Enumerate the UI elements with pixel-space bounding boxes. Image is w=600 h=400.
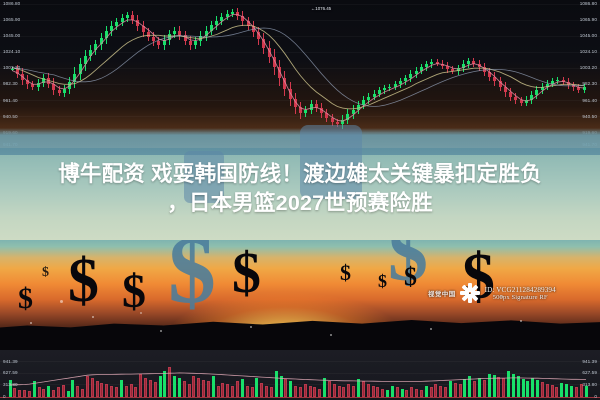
candle-body — [68, 82, 71, 89]
candle-body — [63, 89, 66, 93]
candle-body — [535, 90, 538, 95]
candlestick — [189, 36, 192, 49]
candlestick — [100, 33, 103, 49]
candlestick — [152, 32, 155, 45]
candlestick — [373, 90, 376, 100]
candlestick — [446, 62, 449, 72]
ma-line-ma20 — [12, 25, 584, 109]
candlestick — [514, 93, 517, 105]
candlestick — [567, 78, 570, 88]
candle-body — [168, 34, 171, 39]
candle-body — [283, 78, 286, 89]
candle-body — [236, 12, 239, 16]
light-speck — [430, 328, 432, 330]
candlestick — [257, 27, 260, 45]
candle-body — [541, 87, 544, 91]
candlestick — [79, 58, 82, 80]
axis-tick-label: 627.59 — [582, 370, 597, 375]
candle-body — [215, 21, 218, 26]
candle-body — [178, 31, 181, 36]
candlestick — [73, 67, 76, 88]
axis-tick-label: 0 — [3, 394, 6, 399]
dollar-sign-silhouette: $ — [42, 266, 49, 280]
candle-body — [205, 31, 208, 36]
candlestick — [173, 27, 176, 39]
candlestick — [420, 64, 423, 74]
candlestick — [551, 78, 554, 87]
candlestick — [289, 82, 292, 106]
candle-body — [157, 41, 160, 45]
candle-body — [525, 100, 528, 103]
candlestick — [31, 81, 34, 90]
candlestick — [89, 45, 92, 61]
candlestick — [352, 105, 355, 118]
candle-body — [446, 66, 449, 69]
candle-body — [331, 118, 334, 122]
candle-body — [184, 35, 187, 40]
axis-tick-label: 940.50 — [3, 114, 18, 119]
candlestick — [105, 26, 108, 44]
candle-body — [262, 39, 265, 47]
candle-body — [257, 32, 260, 39]
candle-body — [388, 87, 391, 89]
axis-tick-label: 961.40 — [3, 98, 18, 103]
candlestick — [383, 85, 386, 94]
gridline — [0, 20, 600, 21]
candle-body — [425, 64, 428, 67]
candlestick — [493, 72, 496, 85]
price-chart[interactable]: 1086.801065.901045.001024.101003.20982.3… — [0, 0, 600, 148]
candlestick — [126, 12, 129, 22]
candlestick — [436, 59, 439, 66]
candlestick — [241, 11, 244, 26]
candle-body — [131, 15, 134, 20]
candlestick — [115, 18, 118, 30]
dollar-sign-silhouette: $ — [68, 250, 99, 312]
candlestick — [210, 21, 213, 36]
candle-body — [399, 81, 402, 84]
candle-body — [488, 72, 491, 77]
candlestick — [110, 21, 113, 36]
candlestick — [562, 77, 565, 86]
candle-body — [105, 31, 108, 38]
candlestick — [262, 33, 265, 54]
light-speck — [30, 322, 32, 324]
candle-body — [294, 99, 297, 107]
candlestick — [441, 60, 444, 69]
volume-ma-line — [10, 373, 586, 385]
candle-body — [509, 92, 512, 97]
candle-body — [42, 78, 45, 83]
candle-body — [336, 122, 339, 124]
candle-body — [430, 62, 433, 64]
gridline — [0, 4, 600, 5]
candlestick — [47, 73, 50, 88]
candle-body — [320, 108, 323, 113]
axis-tick-label: 1003.20 — [3, 65, 20, 70]
candle-body — [189, 41, 192, 46]
candle-body — [299, 107, 302, 113]
light-speck — [520, 320, 522, 322]
candle-body — [373, 94, 376, 97]
candlestick — [268, 41, 271, 63]
candle-body — [163, 40, 166, 45]
candlestick — [425, 61, 428, 71]
candle-body — [577, 87, 580, 89]
candlestick — [394, 81, 397, 90]
candlestick — [530, 91, 533, 104]
candlestick — [310, 100, 313, 115]
candlestick — [147, 28, 150, 41]
candle-body — [346, 114, 349, 119]
candlestick — [509, 88, 512, 101]
candle-body — [110, 26, 113, 31]
candle-body — [394, 84, 397, 86]
candle-body — [58, 90, 61, 93]
candle-body — [556, 80, 559, 82]
candlestick — [451, 66, 454, 75]
candle-body — [136, 20, 139, 26]
candlestick — [478, 60, 481, 72]
candle-body — [26, 80, 29, 85]
candle-body — [572, 85, 575, 87]
candle-body — [551, 81, 554, 83]
axis-tick-label: 1024.10 — [580, 49, 597, 54]
watermark: 视觉中国 ID: VCG211284289394 500px Signature… — [428, 282, 556, 304]
candle-body — [546, 84, 549, 87]
candlestick — [525, 96, 528, 106]
candle-body — [415, 71, 418, 75]
candlestick — [304, 106, 307, 118]
candlestick — [178, 26, 181, 39]
candlestick — [58, 86, 61, 96]
candlestick — [378, 87, 381, 97]
candle-body — [567, 82, 570, 85]
watermark-license: 500px Signature RF — [485, 294, 556, 301]
candlestick — [63, 85, 66, 97]
volume-chart-baseline — [0, 397, 600, 398]
candlestick — [194, 37, 197, 49]
dollar-sign-silhouette: $ — [122, 268, 146, 316]
light-speck — [160, 330, 162, 332]
candle-body — [252, 26, 255, 32]
candle-body — [126, 15, 129, 18]
watermark-text: ID: VCG211284289394 500px Signature RF — [485, 286, 556, 301]
candle-body — [37, 83, 40, 87]
candlestick — [142, 21, 145, 37]
axis-tick-label: 1086.80 — [3, 1, 20, 6]
candlestick — [357, 101, 360, 114]
candle-body — [47, 78, 50, 83]
axis-tick-label: 982.30 — [3, 81, 18, 86]
candlestick — [546, 80, 549, 90]
candlestick — [136, 15, 139, 31]
candle-body — [152, 37, 155, 42]
candle-body — [483, 67, 486, 72]
candlestick — [37, 79, 40, 91]
candlestick — [205, 26, 208, 41]
candlestick — [299, 102, 302, 118]
candle-body — [352, 110, 355, 115]
candle-body — [226, 14, 229, 17]
dollar-sign-silhouette: $ — [232, 244, 261, 302]
candle-body — [210, 25, 213, 30]
candlestick — [556, 77, 559, 84]
dollar-sign-silhouette: $ — [378, 272, 387, 290]
candlestick — [415, 67, 418, 79]
candlestick — [157, 37, 160, 49]
candle-body — [514, 97, 517, 101]
candle-body — [404, 78, 407, 81]
candlestick — [404, 75, 407, 85]
candlestick — [199, 31, 202, 46]
candlestick — [94, 40, 97, 55]
candlestick — [121, 14, 124, 26]
candle-body — [52, 84, 55, 90]
candle-body — [520, 100, 523, 102]
axis-tick-label: 1065.90 — [580, 17, 597, 22]
candle-body — [289, 89, 292, 99]
candle-body — [121, 18, 124, 22]
candle-body — [100, 38, 103, 44]
candle-body — [462, 64, 465, 68]
candlestick — [577, 84, 580, 93]
candlestick — [520, 97, 523, 106]
candlestick — [346, 109, 349, 124]
axis-tick-label: 627.59 — [3, 370, 18, 375]
dollar-sign-silhouette: $ — [404, 264, 417, 290]
candle-body — [231, 12, 234, 14]
candle-body — [273, 57, 276, 68]
candlestick — [472, 58, 475, 67]
axis-tick-label: 961.40 — [582, 98, 597, 103]
candlestick — [283, 71, 286, 96]
candle-body — [457, 68, 460, 71]
candlestick — [278, 60, 281, 85]
candlestick — [535, 86, 538, 99]
candle-body — [310, 104, 313, 109]
candle-body — [467, 61, 470, 64]
candle-body — [367, 97, 370, 101]
candlestick — [68, 77, 71, 95]
axis-tick-label: 1045.00 — [580, 33, 597, 38]
candlestick — [21, 68, 24, 84]
candlestick — [467, 58, 470, 68]
candlestick — [504, 82, 507, 97]
axis-tick-label: 313.80 — [582, 382, 597, 387]
candle-body — [341, 120, 344, 125]
candlestick — [399, 78, 402, 88]
candlestick — [572, 82, 575, 91]
dollar-sign-silhouette: $ — [168, 240, 216, 318]
candle-body — [383, 88, 386, 90]
candlestick — [294, 93, 297, 114]
candlestick — [388, 84, 391, 91]
axis-tick-label: 1065.90 — [3, 17, 20, 22]
candle-body — [504, 87, 507, 92]
candlestick — [163, 35, 166, 50]
candle-body — [147, 32, 150, 37]
page-title-line-1: 博牛配资 戏耍韩国防线！渡边雄太关键暴扣定胜负 — [4, 160, 596, 189]
candle-body — [115, 22, 118, 26]
gridline — [0, 84, 600, 85]
candlestick — [215, 16, 218, 29]
axis-tick-label: 1024.10 — [3, 49, 20, 54]
candle-body — [89, 50, 92, 56]
candlestick — [84, 50, 87, 71]
starburst-icon — [459, 282, 481, 304]
candle-body — [142, 26, 145, 32]
axis-tick-label: 982.30 — [582, 81, 597, 86]
candle-body — [493, 77, 496, 82]
candle-body — [94, 44, 97, 49]
candlestick — [252, 21, 255, 37]
candle-body — [562, 80, 565, 82]
price-annotation: ←1076.45 — [311, 6, 331, 11]
axis-tick-label: 1086.80 — [580, 1, 597, 6]
candlestick — [457, 65, 460, 75]
light-speck — [330, 334, 332, 336]
screenshot-root: 1086.801065.901045.001024.101003.20982.3… — [0, 0, 600, 400]
candlestick — [236, 8, 239, 20]
candle-body — [472, 61, 475, 63]
candle-body — [268, 48, 271, 57]
candle-body — [357, 105, 360, 110]
axis-tick-label: 940.50 — [582, 114, 597, 119]
candle-body — [420, 67, 423, 70]
candlestick — [131, 11, 134, 24]
page-title: 博牛配资 戏耍韩国防线！渡边雄太关键暴扣定胜负 ，日本男篮2027世预赛险胜 — [0, 160, 600, 218]
candlestick — [430, 59, 433, 68]
price-chart-moving-averages — [0, 0, 600, 148]
candle-body — [378, 90, 381, 93]
page-title-line-2: ，日本男篮2027世预赛险胜 — [4, 189, 596, 218]
candle-body — [31, 84, 34, 86]
candle-body — [194, 41, 197, 45]
light-speck — [250, 326, 252, 328]
candle-body — [220, 17, 223, 21]
candle-body — [241, 16, 244, 21]
bokeh-dot — [60, 300, 63, 303]
candle-body — [362, 100, 365, 105]
candlestick — [220, 13, 223, 25]
candlestick — [488, 68, 491, 81]
candle-body — [451, 69, 454, 71]
candle-body — [583, 87, 586, 89]
candlestick — [273, 49, 276, 74]
candle-body — [436, 62, 439, 64]
candlestick — [42, 74, 45, 87]
watermark-id: ID: VCG211284289394 — [485, 286, 556, 294]
volume-chart[interactable]: 941.39627.59313.800 941.39627.59313.800 — [0, 350, 600, 400]
candle-body — [278, 67, 281, 78]
gridline — [0, 68, 600, 69]
candlestick — [231, 9, 234, 16]
candlestick — [168, 30, 171, 45]
candlestick — [462, 60, 465, 72]
candlestick — [26, 75, 29, 88]
candle-body — [325, 113, 328, 118]
axis-tick-label: 941.39 — [582, 359, 597, 364]
candlestick — [226, 10, 229, 20]
candlestick — [325, 109, 328, 122]
candlestick — [52, 78, 55, 94]
axis-tick-label: 941.39 — [3, 359, 18, 364]
candle-body — [304, 110, 307, 114]
volume-chart-moving-average — [0, 350, 600, 400]
candlestick — [499, 77, 502, 92]
candle-body — [409, 74, 412, 78]
candlestick — [315, 100, 318, 112]
candlestick — [541, 83, 544, 95]
candlestick — [362, 96, 365, 109]
candle-body — [173, 31, 176, 35]
candle-body — [315, 104, 318, 108]
candle-body — [79, 64, 82, 73]
candlestick — [320, 103, 323, 118]
dollar-sign-silhouette: $ — [340, 262, 351, 284]
light-speck — [92, 316, 94, 318]
candlestick — [483, 63, 486, 76]
axis-tick-label: 1045.00 — [3, 33, 20, 38]
candle-body — [199, 36, 202, 41]
axis-tick-label: 313.80 — [3, 382, 18, 387]
candlestick — [184, 31, 187, 46]
gridline — [0, 36, 600, 37]
candle-body — [84, 56, 87, 64]
candle-body — [73, 74, 76, 82]
candlestick — [367, 93, 370, 105]
candle-body — [499, 81, 502, 86]
axis-tick-label: 1003.20 — [580, 65, 597, 70]
candle-body — [441, 64, 444, 66]
axis-tick-label: 0 — [594, 394, 597, 399]
dollar-sign-silhouette: $ — [18, 284, 33, 314]
candle-body — [247, 21, 250, 26]
candle-body — [478, 64, 481, 68]
candlestick — [247, 17, 250, 30]
candle-body — [21, 74, 24, 80]
candle-body — [530, 95, 533, 100]
watermark-brand: 视觉中国 — [428, 288, 456, 298]
candlestick — [409, 70, 412, 82]
